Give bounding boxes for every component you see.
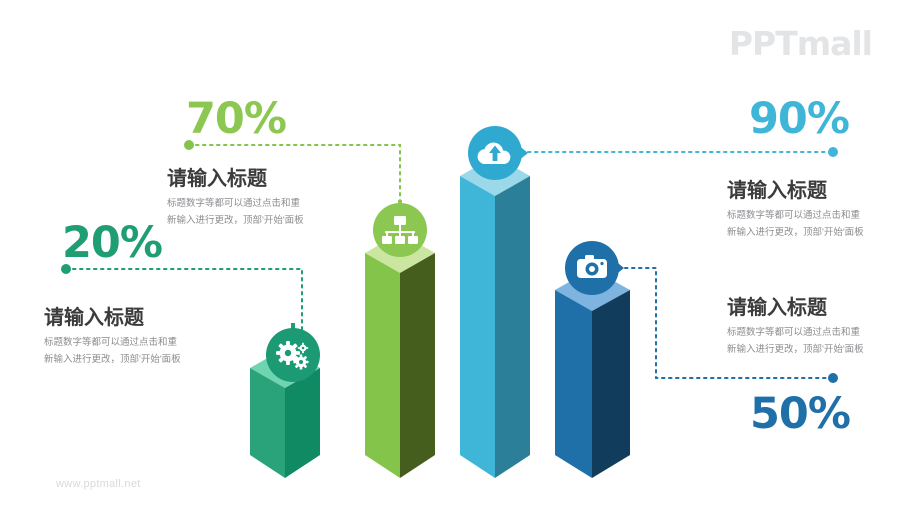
percent-value-50: 50% xyxy=(750,393,850,436)
callout-20: 20% xyxy=(62,222,162,265)
bar-70-percent[interactable] xyxy=(365,233,435,478)
callout-70-text: 请输入标题 标题数字等都可以通过点击和重 新输入进行更改，顶部'开始'面板 xyxy=(167,168,304,229)
slide-canvas: PPTmall www.pptmall.net xyxy=(0,0,900,506)
callout-body-70: 标题数字等都可以通过点击和重 新输入进行更改，顶部'开始'面板 xyxy=(167,196,304,229)
callout-body-90: 标题数字等都可以通过点击和重 新输入进行更改，顶部'开始'面板 xyxy=(727,208,864,241)
callout-body-50-line1: 标题数字等都可以通过点击和重 xyxy=(727,325,864,342)
gears-icon-badge[interactable] xyxy=(266,323,320,382)
percent-value-20: 20% xyxy=(62,222,162,265)
percent-value-70: 70% xyxy=(186,98,286,141)
bar-90-percent[interactable] xyxy=(460,156,530,478)
callout-title-90: 请输入标题 xyxy=(727,180,864,202)
callout-body-50-line2: 新输入进行更改，顶部'开始'面板 xyxy=(727,342,864,359)
callout-50: 50% xyxy=(750,393,850,436)
percent-value-90: 90% xyxy=(749,98,849,141)
callout-body-20: 标题数字等都可以通过点击和重 新输入进行更改，顶部'开始'面板 xyxy=(44,335,181,368)
callout-body-90-line2: 新输入进行更改，顶部'开始'面板 xyxy=(727,225,864,242)
callout-20-text: 请输入标题 标题数字等都可以通过点击和重 新输入进行更改，顶部'开始'面板 xyxy=(44,307,181,368)
callout-70: 70% xyxy=(186,98,286,141)
callout-50-text: 请输入标题 标题数字等都可以通过点击和重 新输入进行更改，顶部'开始'面板 xyxy=(727,297,864,358)
callout-body-90-line1: 标题数字等都可以通过点击和重 xyxy=(727,208,864,225)
callout-body-20-line2: 新输入进行更改，顶部'开始'面板 xyxy=(44,352,181,369)
callout-body-70-line1: 标题数字等都可以通过点击和重 xyxy=(167,196,304,213)
callout-90-text: 请输入标题 标题数字等都可以通过点击和重 新输入进行更改，顶部'开始'面板 xyxy=(727,180,864,241)
callout-body-20-line1: 标题数字等都可以通过点击和重 xyxy=(44,335,181,352)
callout-title-70: 请输入标题 xyxy=(167,168,304,190)
callout-body-70-line2: 新输入进行更改，顶部'开始'面板 xyxy=(167,213,304,230)
callout-title-20: 请输入标题 xyxy=(44,307,181,329)
callout-title-50: 请输入标题 xyxy=(727,297,864,319)
hierarchy-icon-badge[interactable] xyxy=(373,200,427,257)
callout-body-50: 标题数字等都可以通过点击和重 新输入进行更改，顶部'开始'面板 xyxy=(727,325,864,358)
bar-50-percent[interactable] xyxy=(555,269,630,478)
callout-90: 90% xyxy=(749,98,849,141)
